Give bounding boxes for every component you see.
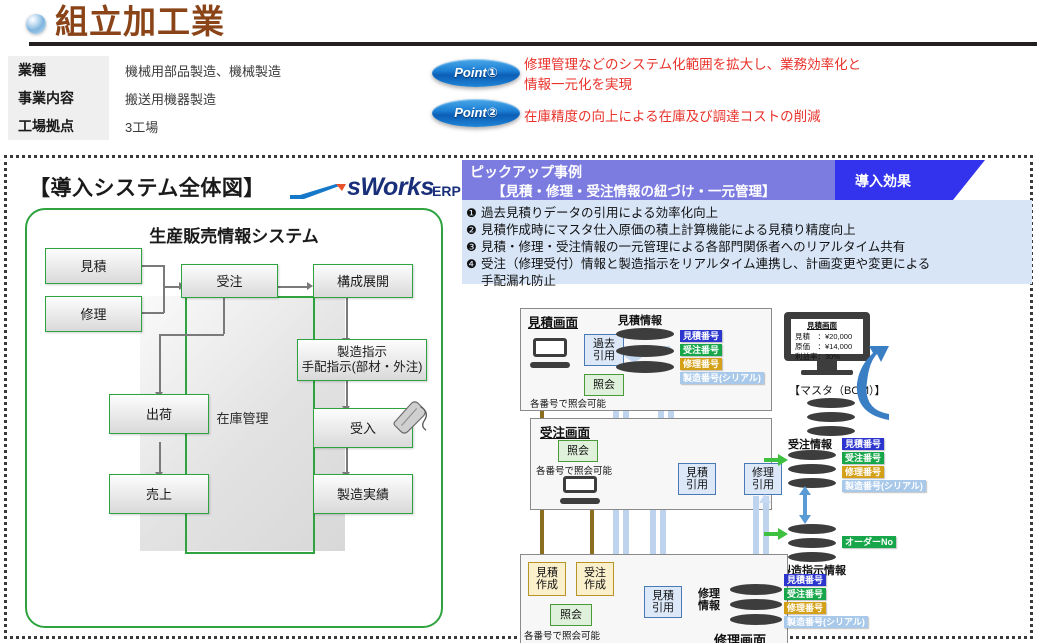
info-label: 事業内容: [8, 84, 109, 112]
connector: [159, 442, 161, 474]
node-seizo-jisseki[interactable]: 製造実績: [313, 474, 413, 514]
connector: [163, 286, 165, 313]
list-number: ❹: [466, 256, 481, 273]
info-label: 工場拠点: [8, 112, 109, 140]
effect-tab: 導入効果: [835, 160, 985, 200]
chip-juchu-sakusei[interactable]: 受注 作成: [576, 562, 614, 596]
sworks-erp-logo: sWorks ERP: [290, 174, 460, 204]
db-label-shuri-joho: 修理 情報: [698, 588, 720, 612]
laptop-icon: [530, 338, 570, 368]
list-text: 見積・修理・受注情報の一元管理による各部門関係者へのリアルタイム共有: [481, 239, 905, 256]
database-icon-shuri: [730, 584, 782, 620]
header-divider: [29, 42, 1037, 46]
tag-mitsumori-bango: 見積番号: [784, 574, 826, 586]
table-row: 事業内容 搬送用機器製造: [8, 84, 428, 112]
tag-shuri-bango: 修理番号: [842, 466, 884, 478]
info-value: 機械用部品製造、機械製造: [109, 56, 428, 84]
node-uriage[interactable]: 売上: [109, 474, 209, 514]
list-text: 受注（修理受付）情報と製造指示をリアルタイム連携し、計画変更や変更による: [481, 256, 930, 273]
chip-mitsumori-inyo-juchu[interactable]: 見積 引用: [678, 463, 716, 495]
tag-order-no: オーダーNo: [842, 536, 896, 548]
info-value: 搬送用機器製造: [109, 84, 428, 112]
info-label: 業種: [8, 56, 109, 84]
node-mitsumori[interactable]: 見積: [45, 248, 142, 284]
node-shukka[interactable]: 出荷: [109, 394, 209, 434]
point-badge-2: Point②: [432, 99, 520, 127]
list-item: ❷ 見積作成時にマスタ仕入原価の積上計算機能による見積り精度向上: [466, 222, 1028, 239]
logo-wordmark: sWorks: [347, 173, 434, 202]
node-seizo-shiji[interactable]: 製造指示 手配指示(部材・外注): [297, 339, 427, 381]
db-label-mitsumori-joho: 見積情報: [618, 312, 662, 328]
monitor-line-2: 原価 ：¥14,000: [795, 342, 852, 351]
system-overview-title: 【導入システム全体図】: [29, 172, 265, 202]
connector: [159, 334, 224, 336]
pickup-banner-subtitle: 【見積・修理・受注情報の紐づけ・一元管理】: [492, 180, 776, 200]
green-arrow-icon: [764, 454, 788, 466]
connector: [142, 265, 164, 267]
connector: [346, 298, 348, 340]
connector: [159, 334, 161, 394]
list-number: ❷: [466, 222, 481, 239]
tag-mitsumori-bango: 見積番号: [842, 438, 884, 450]
list-number: ❸: [466, 239, 481, 256]
laptop-icon: [560, 476, 600, 504]
screen-note: 各番号で照会可能: [530, 396, 606, 410]
list-number: ❶: [466, 205, 481, 222]
node-juchu[interactable]: 受注: [181, 264, 278, 298]
chip-shokai-mitsumori[interactable]: 照会: [584, 374, 624, 396]
list-text: 見積作成時にマスタ仕入原価の積上計算機能による見積り精度向上: [481, 222, 856, 239]
chip-shokai-juchu[interactable]: 照会: [558, 440, 598, 462]
pickup-banner-title: ピックアップ事例: [470, 162, 582, 182]
arrow-icon: [759, 494, 771, 508]
database-icon-mitsumori: [616, 328, 674, 368]
node-kosei[interactable]: 構成展開: [313, 264, 413, 298]
connector: [223, 296, 225, 334]
connector-green: [185, 552, 315, 554]
screen-title: 受注画面: [540, 422, 590, 441]
node-shuri[interactable]: 修理: [45, 296, 142, 332]
tag-shuri-bango: 修理番号: [680, 358, 722, 370]
table-row: 業種 機械用部品製造、機械製造: [8, 56, 428, 84]
list-item: ❸ 見積・修理・受注情報の一元管理による各部門関係者へのリアルタイム共有: [466, 239, 1028, 256]
connector: [277, 286, 309, 288]
detail-diagram: 見積画面 過去 引用 照会 各番号で照会可能 見積情報 見積番号 受注番号 修理…: [462, 308, 1037, 636]
chip-shuri-inyo[interactable]: 修理 引用: [744, 463, 782, 495]
monitor-line-3: 利益率：30%: [795, 352, 840, 361]
list-item: ❹ 受注（修理受付）情報と製造指示をリアルタイム連携し、計画変更や変更による: [466, 256, 1028, 273]
main-dashed-panel: 【導入システム全体図】 sWorks ERP 生産販売情報システム 在庫管理: [4, 155, 1033, 639]
list-item: ❶ 過去見積りデータの引用による効率化向上: [466, 205, 1028, 222]
connector: [163, 265, 165, 286]
point-text-1: 修理管理などのシステム化範囲を拡大し、業務効率化と 情報一元化を実現: [524, 55, 861, 95]
double-arrow-icon: [798, 486, 812, 524]
sphere-bullet-icon: [26, 14, 46, 34]
database-icon-master: [807, 398, 855, 432]
green-arrow-icon: [764, 528, 788, 540]
system-box-title: 生産販売情報システム: [27, 222, 441, 247]
slide-root: 組立加工業 業種 機械用部品製造、機械製造 事業内容 搬送用機器製造 工場拠点 …: [0, 0, 1037, 643]
slide-header: 組立加工業: [0, 0, 1037, 48]
screen-note: 各番号で照会可能: [536, 463, 612, 477]
logo-swoosh-icon: [290, 184, 352, 202]
company-info-table: 業種 機械用部品製造、機械製造 事業内容 搬送用機器製造 工場拠点 3工場: [8, 56, 428, 140]
barcode-scanner-icon: [392, 400, 430, 434]
point-badge-1: Point①: [432, 59, 520, 87]
pickup-banner: 導入効果 ピックアップ事例 【見積・修理・受注情報の紐づけ・一元管理】: [462, 160, 1032, 200]
effect-tab-label: 導入効果: [855, 171, 911, 191]
connector: [142, 312, 164, 314]
tag-mitsumori-bango: 見積番号: [680, 330, 722, 342]
tag-shuri-bango: 修理番号: [784, 602, 826, 614]
tag-juchu-bango: 受注番号: [784, 588, 826, 600]
chip-shokai-shuri[interactable]: 照会: [550, 604, 592, 626]
production-sales-system-box: 生産販売情報システム 在庫管理: [25, 208, 443, 628]
screen-note: 各番号で照会可能: [524, 628, 600, 642]
database-icon-seizo-shiji: [788, 524, 836, 558]
page-title: 組立加工業: [55, 2, 225, 42]
table-row: 工場拠点 3工場: [8, 112, 428, 140]
list-text-continued: 手配漏れ防止: [481, 273, 1028, 290]
tag-juchu-bango: 受注番号: [842, 452, 884, 464]
chip-mitsumori-sakusei[interactable]: 見積 作成: [528, 562, 566, 596]
logo-suffix: ERP: [432, 183, 461, 199]
point-text-2: 在庫精度の向上による在庫及び調達コストの削減: [524, 107, 821, 127]
tag-seizo-bango: 製造番号(シリアル): [784, 616, 868, 628]
effects-list: ❶ 過去見積りデータの引用による効率化向上 ❷ 見積作成時にマスタ仕入原価の積上…: [462, 200, 1032, 284]
database-icon-juchu: [788, 450, 836, 484]
screen-title: 見積画面: [528, 312, 578, 331]
monitor-line-1: 見積 ：¥20,000: [795, 332, 852, 341]
connector-green: [277, 296, 313, 298]
tag-seizo-bango: 製造番号(シリアル): [680, 372, 764, 384]
tag-juchu-bango: 受注番号: [680, 344, 722, 356]
tag-seizo-bango: 製造番号(シリアル): [842, 480, 926, 492]
bom-curve-arrow-icon: [855, 344, 903, 424]
monitor-screen-title: 見積画面: [807, 320, 837, 331]
chip-mitsumori-inyo-shuri[interactable]: 見積 引用: [644, 586, 682, 618]
screen-title: 修理画面: [714, 630, 766, 643]
info-value: 3工場: [109, 112, 428, 140]
list-text: 過去見積りデータの引用による効率化向上: [481, 205, 718, 222]
